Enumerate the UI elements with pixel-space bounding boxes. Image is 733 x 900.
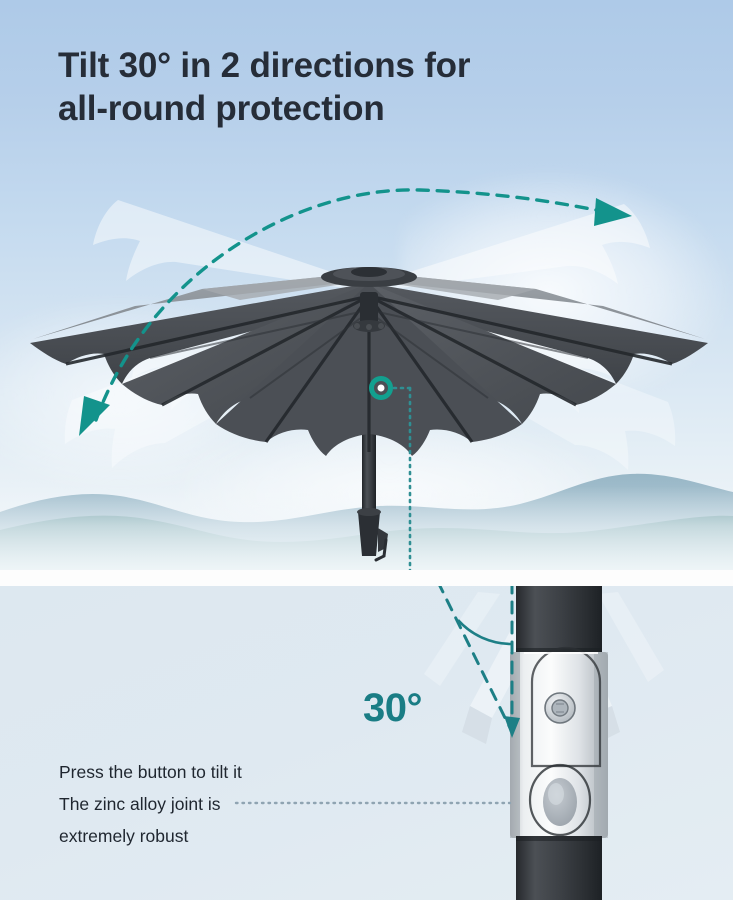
caption-line-3: extremely robust	[59, 820, 389, 852]
joint-marker-ring	[372, 379, 391, 398]
joint-closeup-illustration	[0, 586, 733, 900]
pole-upper	[516, 586, 602, 654]
angle-degree-label: 30°	[363, 686, 422, 731]
top-panel-umbrella-scene: Tilt 30° in 2 directions for all-round p…	[0, 0, 733, 576]
pole-lower	[516, 836, 602, 900]
caption-line-1: Press the button to tilt it	[59, 756, 389, 788]
product-feature-image: Tilt 30° in 2 directions for all-round p…	[0, 0, 733, 900]
atmospheric-haze	[0, 486, 733, 576]
panel-divider	[0, 570, 733, 586]
bottom-panel-joint-closeup: 30° Press the button to tilt it The zinc…	[0, 586, 733, 900]
cloud-right	[400, 170, 730, 390]
headline-line-1: Tilt 30° in 2 directions for	[58, 44, 658, 87]
page-title: Tilt 30° in 2 directions for all-round p…	[58, 44, 658, 131]
feature-caption: Press the button to tilt it The zinc all…	[59, 756, 389, 852]
hub-collar	[360, 292, 378, 328]
headline-line-2: all-round protection	[58, 87, 658, 130]
caption-line-2: The zinc alloy joint is	[59, 788, 389, 820]
